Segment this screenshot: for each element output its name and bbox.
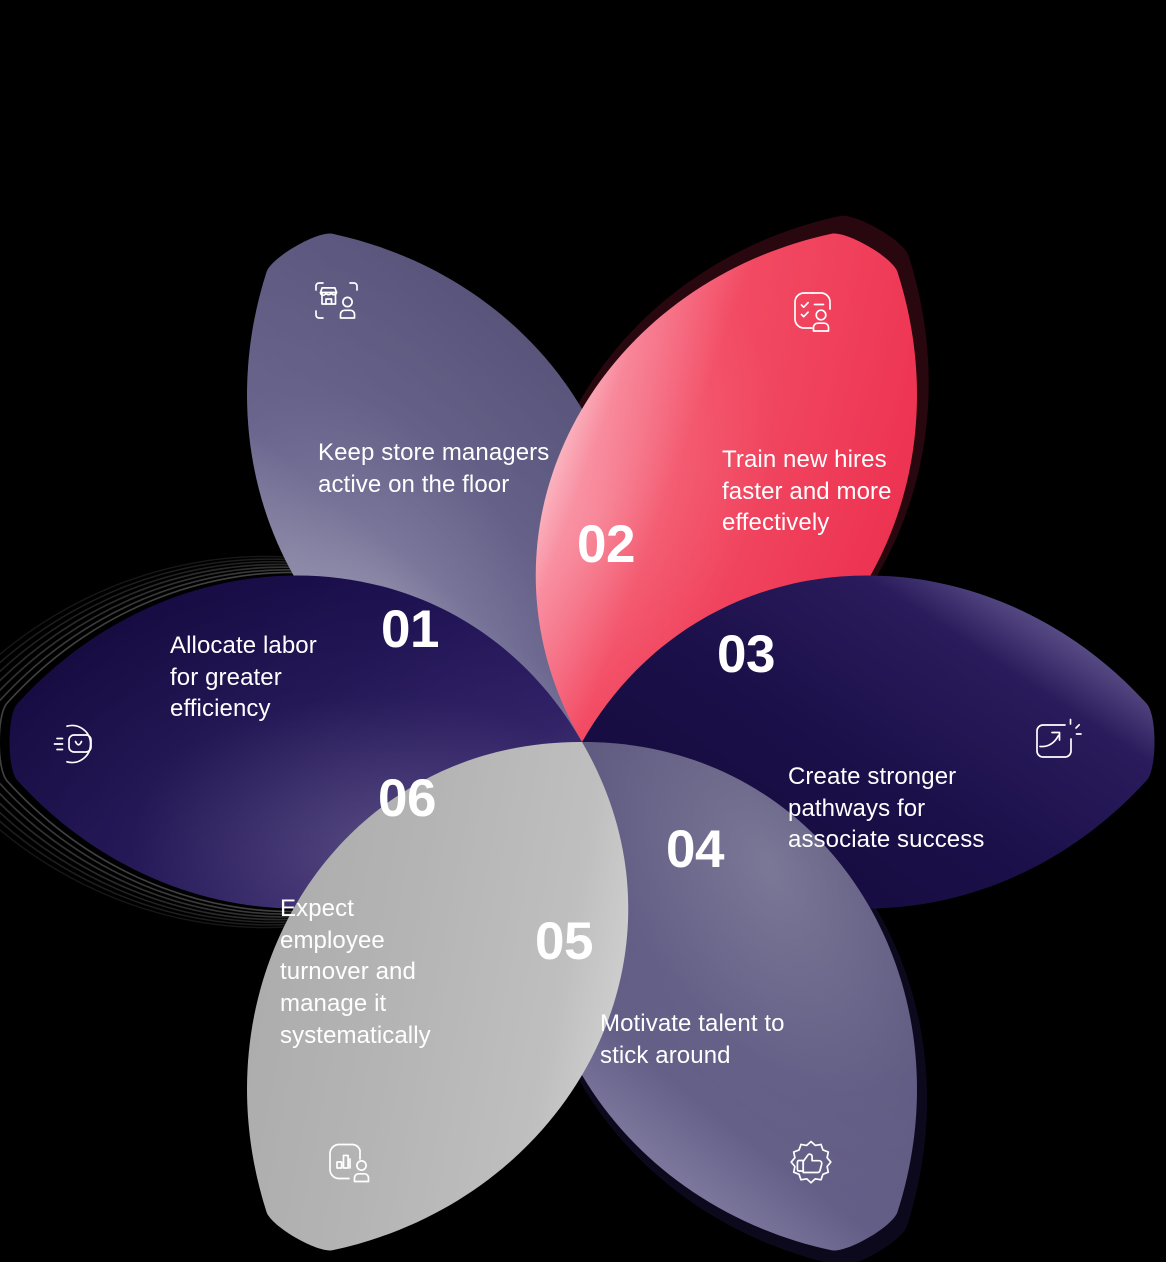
petal-01-title: Allocate labor for greater efficiency xyxy=(170,630,370,725)
petal-04-number: 04 xyxy=(666,823,724,876)
petal-01-number: 01 xyxy=(381,603,439,656)
petal-06-number: 06 xyxy=(378,772,436,825)
thumbs-up-badge-icon xyxy=(780,1135,842,1197)
storefront-person-icon xyxy=(306,273,368,335)
petal-05-title: Motivate talent to stick around xyxy=(600,1008,850,1071)
petal-03-title: Train new hires faster and more effectiv… xyxy=(722,444,937,539)
bar-chart-person-icon xyxy=(320,1135,382,1197)
petal-02-number: 02 xyxy=(577,518,635,571)
speed-smile-circle-icon xyxy=(47,712,109,774)
petal-03-number: 03 xyxy=(717,628,775,681)
petal-05-number: 05 xyxy=(535,915,593,968)
petal-06-title: Expect employee turnover and manage it s… xyxy=(280,893,465,1051)
card-arrow-up-sparkle-icon xyxy=(1025,712,1087,774)
checklist-person-icon xyxy=(781,284,843,346)
infographic-canvas: 01 Allocate labor for greater efficiency… xyxy=(0,0,1166,1262)
petal-02-title: Keep store managers active on the floor xyxy=(318,437,598,500)
petal-04-title: Create stronger pathways for associate s… xyxy=(788,761,1028,856)
